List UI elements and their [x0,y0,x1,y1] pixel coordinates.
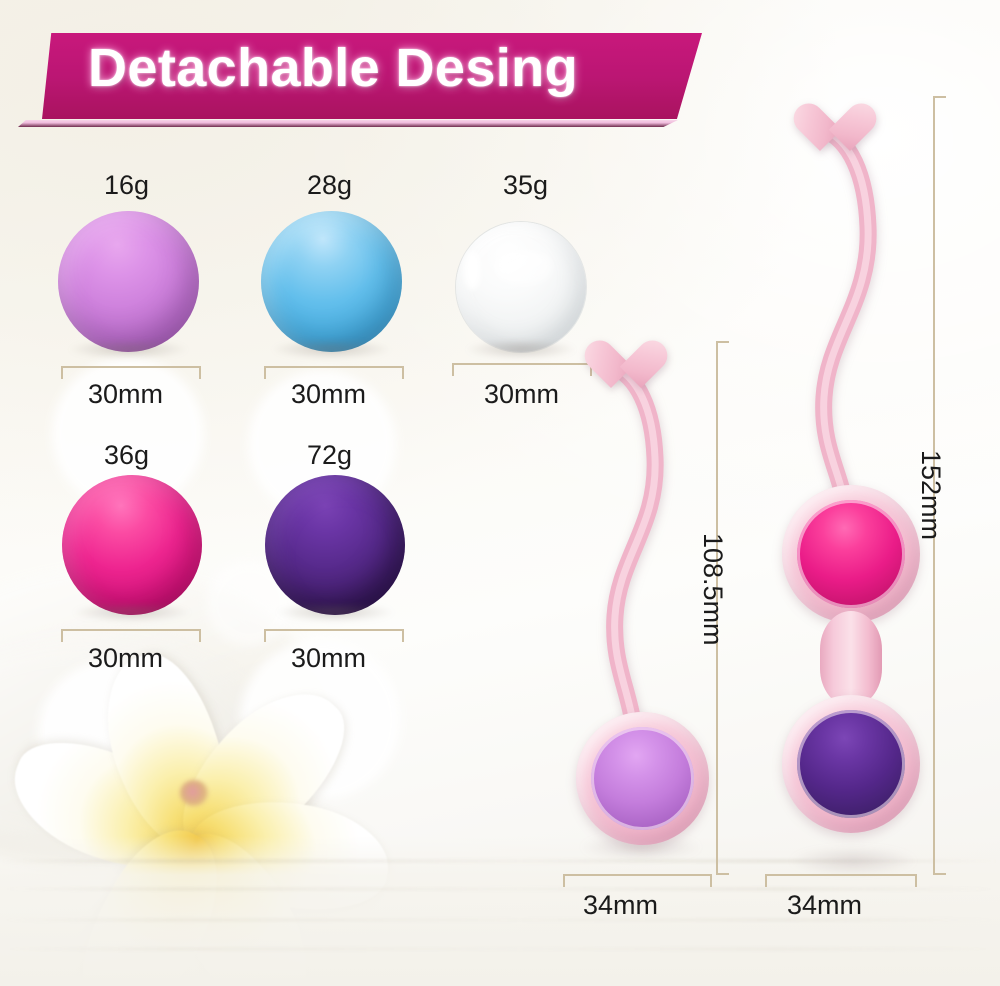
double-ball-kegel-device [760,95,940,875]
ball-contact-shadow [69,341,187,359]
ball-weight-label-36g: 36g [104,440,149,471]
dimension-bracket-ball-72g [264,629,404,642]
ball-weight-label-35g: 35g [503,170,548,201]
dimension-label-ball-35g: 30mm [484,379,559,410]
dimension-label-ball-36g: 30mm [88,643,163,674]
inner-ball-magenta [797,500,905,608]
ball-contact-shadow [73,604,191,622]
ball-pod-lower [782,695,920,833]
ball-contact-shadow [272,341,390,359]
ball-72g-dark-purple [265,475,405,615]
product-contact-shadow [790,847,916,875]
inner-ball-dark-purple [797,710,905,818]
dimension-label-ball-16g: 30mm [88,379,163,410]
dimension-label-length-single: 108.5mm [697,533,728,646]
ball-pod-upper [782,485,920,623]
product-infographic: Detachable Desing 16g 30mm 28g 30mm 35g … [0,0,1000,986]
dimension-bracket-ball-28g [264,366,404,379]
dimension-label-ball-28g: 30mm [291,379,366,410]
dimension-label-width-double: 34mm [787,890,862,921]
ball-36g-magenta [62,475,202,615]
flower-center [180,780,208,806]
heart-tab-double [792,105,850,157]
connector-waist [820,611,882,707]
dimension-label-ball-72g: 30mm [291,643,366,674]
ball-28g-blue [261,211,402,352]
ball-contact-shadow [276,604,394,622]
ball-weight-label-72g: 72g [307,440,352,471]
dimension-bracket-ball-36g [61,629,201,642]
banner-title: Detachable Desing [88,37,578,99]
banner-underline [18,120,678,127]
heart-tab-single [583,342,641,394]
ball-pod-single [576,712,709,845]
ball-weight-label-28g: 28g [307,170,352,201]
inner-ball-light-purple [591,727,695,831]
retrieval-cord-double [760,95,940,515]
dimension-label-length-double: 152mm [915,450,946,540]
dimension-bracket-ball-16g [61,366,201,379]
headline-banner: Detachable Desing [42,33,702,119]
ball-weight-label-16g: 16g [104,170,149,201]
dimension-bracket-width-double [765,874,917,887]
ball-16g-light-purple [58,211,199,352]
dimension-bracket-width-single [563,874,712,887]
dimension-label-width-single: 34mm [583,890,658,921]
